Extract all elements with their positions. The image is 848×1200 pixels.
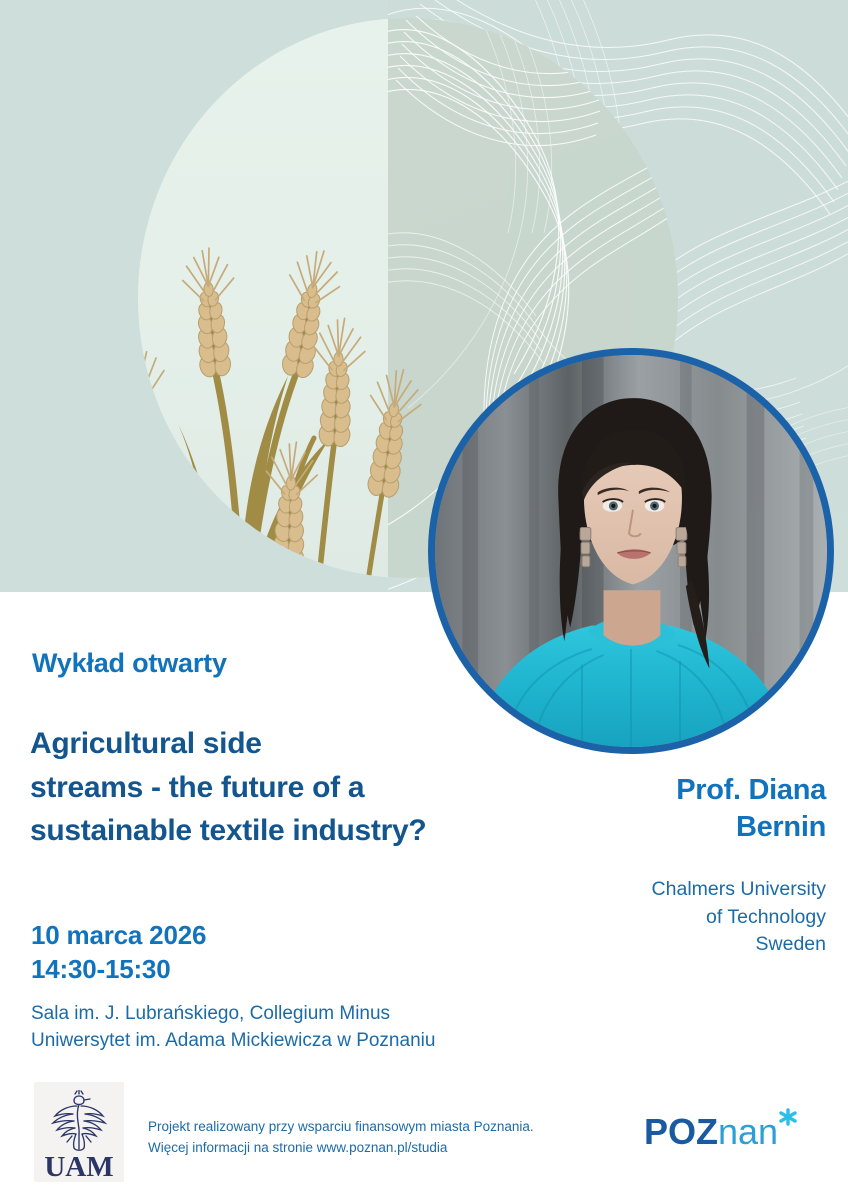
affiliation-line-1: Chalmers University <box>466 876 826 904</box>
affiliation-line-2: of Technology <box>466 904 826 932</box>
poznan-logo: POZ nan <box>642 1104 812 1160</box>
speaker-name-line-1: Prof. Diana <box>466 772 826 809</box>
venue-line-2: Uniwersytet im. Adama Mickiewicza w Pozn… <box>31 1027 435 1054</box>
event-datetime: 10 marca 2026 14:30-15:30 <box>31 918 206 987</box>
funding-line-1: Projekt realizowany przy wsparciu finans… <box>148 1117 534 1138</box>
poznan-logo-text-light: nan <box>718 1111 778 1152</box>
speaker-name: Prof. Diana Bernin <box>466 772 826 846</box>
speaker-portrait <box>428 348 834 754</box>
event-time: 14:30-15:30 <box>31 952 206 986</box>
uam-logo: UAM <box>34 1082 124 1182</box>
poznan-logo-text-dark: POZ <box>644 1111 718 1152</box>
funding-line-2: Więcej informacji na stronie www.poznan.… <box>148 1138 534 1159</box>
event-venue: Sala im. J. Lubrańskiego, Collegium Minu… <box>31 1000 435 1055</box>
venue-line-1: Sala im. J. Lubrańskiego, Collegium Minu… <box>31 1000 435 1027</box>
funding-note: Projekt realizowany przy wsparciu finans… <box>148 1117 534 1159</box>
affiliation-line-3: Sweden <box>466 931 826 959</box>
uam-logo-text: UAM <box>44 1151 113 1182</box>
kicker-label: Wykład otwarty <box>32 648 227 679</box>
star-asterisk-icon <box>781 1110 795 1124</box>
wheat-stalks-graphic <box>138 138 438 578</box>
event-date: 10 marca 2026 <box>31 918 206 952</box>
speaker-affiliation: Chalmers University of Technology Sweden <box>466 876 826 959</box>
speaker-name-line-2: Bernin <box>466 809 826 846</box>
title-line-1: Agricultural side <box>30 722 590 766</box>
